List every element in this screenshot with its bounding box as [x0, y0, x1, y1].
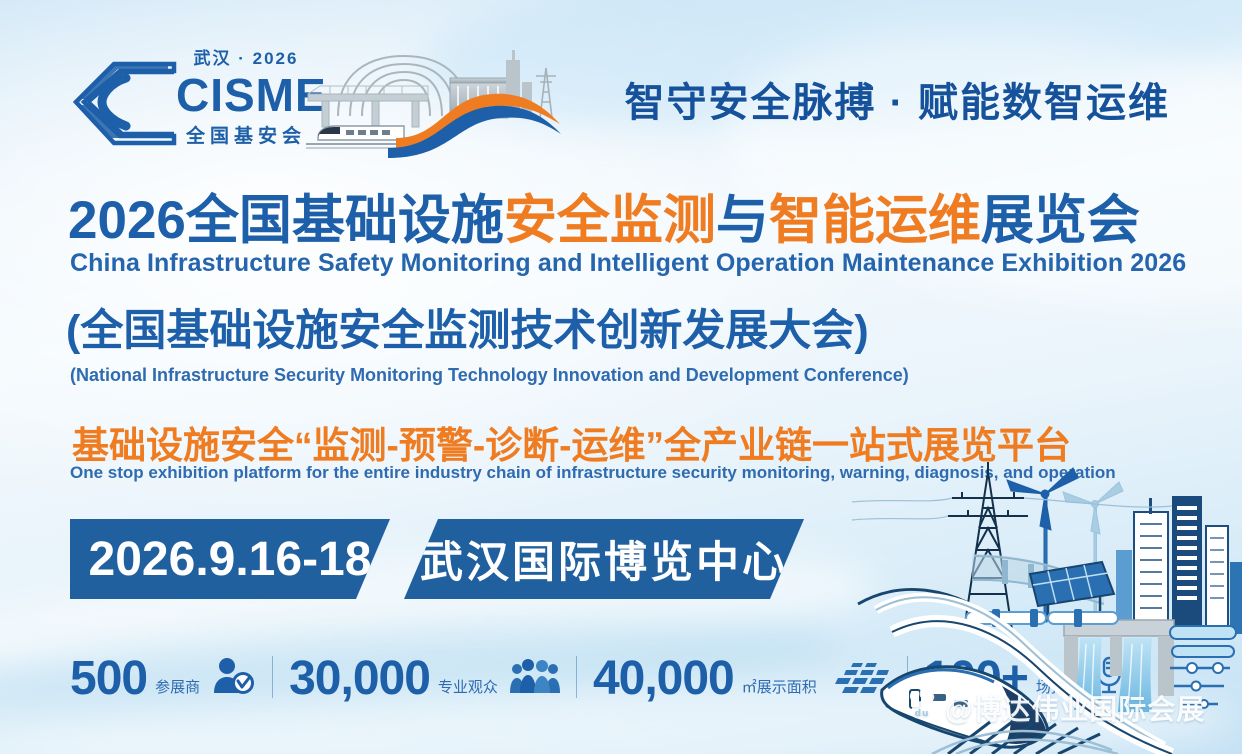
logo-chinese-short: 全国基安会	[176, 121, 316, 148]
stat-label: 参展商	[155, 676, 200, 697]
title-part-3: 展览会	[981, 191, 1140, 250]
exhibition-grid-icon	[829, 659, 891, 700]
stat-value: 500	[70, 654, 147, 704]
watermark: du @博达伟业国际会展	[905, 688, 1205, 728]
stat-visitors: 30,000 专业观众	[289, 642, 560, 704]
banner-separator	[390, 519, 404, 599]
slogan-chinese: 基础设施安全“监测-预警-诊断-运维”全产业链一站式展览平台	[72, 415, 1071, 469]
stat-divider	[576, 656, 577, 698]
logo-city-year: 武汉 · 2026	[176, 44, 316, 69]
solar-panel-icon	[1030, 562, 1114, 620]
exhibitor-badge-icon	[212, 655, 256, 700]
poster-canvas: 武汉 · 2026 CISME 全国基安会	[0, 0, 1242, 754]
power-pylon-icon	[948, 462, 1028, 630]
watermark-text: @博达伟业国际会展	[945, 688, 1205, 728]
subtitle-english: (National Infrastructure Security Monito…	[70, 365, 909, 386]
city-skyline-icon	[1116, 496, 1242, 634]
stat-value: 30,000	[289, 654, 430, 704]
wind-turbine-icon	[1063, 482, 1123, 622]
logo-acronym: CISME	[176, 69, 316, 121]
stat-value: 40,000	[593, 654, 734, 704]
stat-divider	[272, 656, 273, 698]
cisme-logo: 武汉 · 2026 CISME 全国基安会	[70, 44, 310, 156]
page-title: 2026全国基础设施安全监测与智能运维展览会	[68, 178, 1140, 254]
header-tagline: 智守安全脉搏 · 赋能数智运维	[624, 70, 1170, 128]
slogan-english: One stop exhibition platform for the ent…	[70, 463, 1116, 483]
infrastructure-montage-icon	[300, 42, 562, 160]
visitors-group-icon	[510, 655, 560, 700]
baidu-paw-icon: du	[905, 689, 939, 728]
event-venue: 武汉国际博览中心	[404, 519, 804, 599]
title-part-1: 2026全国基础设施	[68, 191, 504, 250]
poster-header: 武汉 · 2026 CISME 全国基安会	[0, 0, 1242, 170]
title-english-primary: China Infrastructure Safety Monitoring a…	[70, 249, 1186, 278]
title-highlight-2: 智能运维	[769, 191, 981, 250]
stat-label: 专业观众	[438, 676, 498, 697]
subtitle-chinese: (全国基础设施安全监测技术创新发展大会)	[66, 296, 869, 358]
title-part-2: 与	[716, 191, 769, 250]
title-highlight-1: 安全监测	[504, 191, 716, 250]
stat-exhibitors: 500 参展商	[70, 642, 256, 704]
bridge-icon	[972, 554, 1106, 604]
stat-exhibition-area: 40,000 ㎡展示面积	[593, 642, 891, 704]
svg-text:du: du	[915, 709, 930, 719]
wind-turbine-icon	[1007, 468, 1078, 622]
event-date: 2026.9.16-18	[70, 519, 390, 599]
stat-label: ㎡展示面积	[742, 676, 817, 697]
date-venue-banner: 2026.9.16-18 武汉国际博览中心	[70, 519, 804, 599]
